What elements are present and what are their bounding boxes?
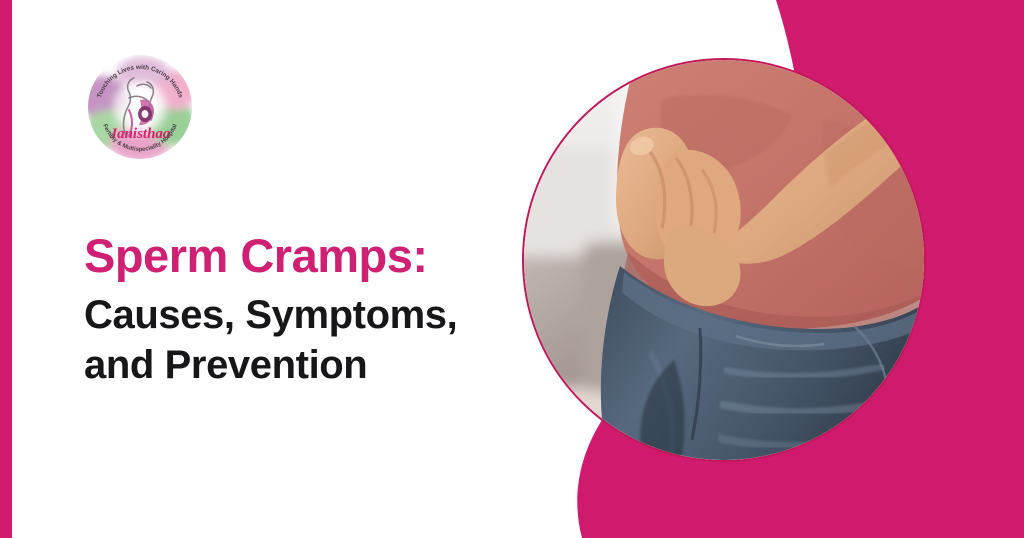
hero-photo <box>522 58 926 462</box>
page-subtitle: Causes, Symptoms, and Prevention <box>84 290 514 390</box>
page-subtitle-line-1: Causes, Symptoms, <box>84 290 514 340</box>
janisthaa-logo: Janisthaa Touching Lives with Caring Han… <box>85 52 195 164</box>
headline-block: Sperm Cramps: Causes, Symptoms, and Prev… <box>84 228 514 390</box>
page-title: Sperm Cramps: <box>84 228 514 284</box>
left-accent-stripe <box>0 0 12 538</box>
blog-banner: Janisthaa Touching Lives with Caring Han… <box>0 0 1024 538</box>
page-subtitle-line-2: and Prevention <box>84 340 514 390</box>
